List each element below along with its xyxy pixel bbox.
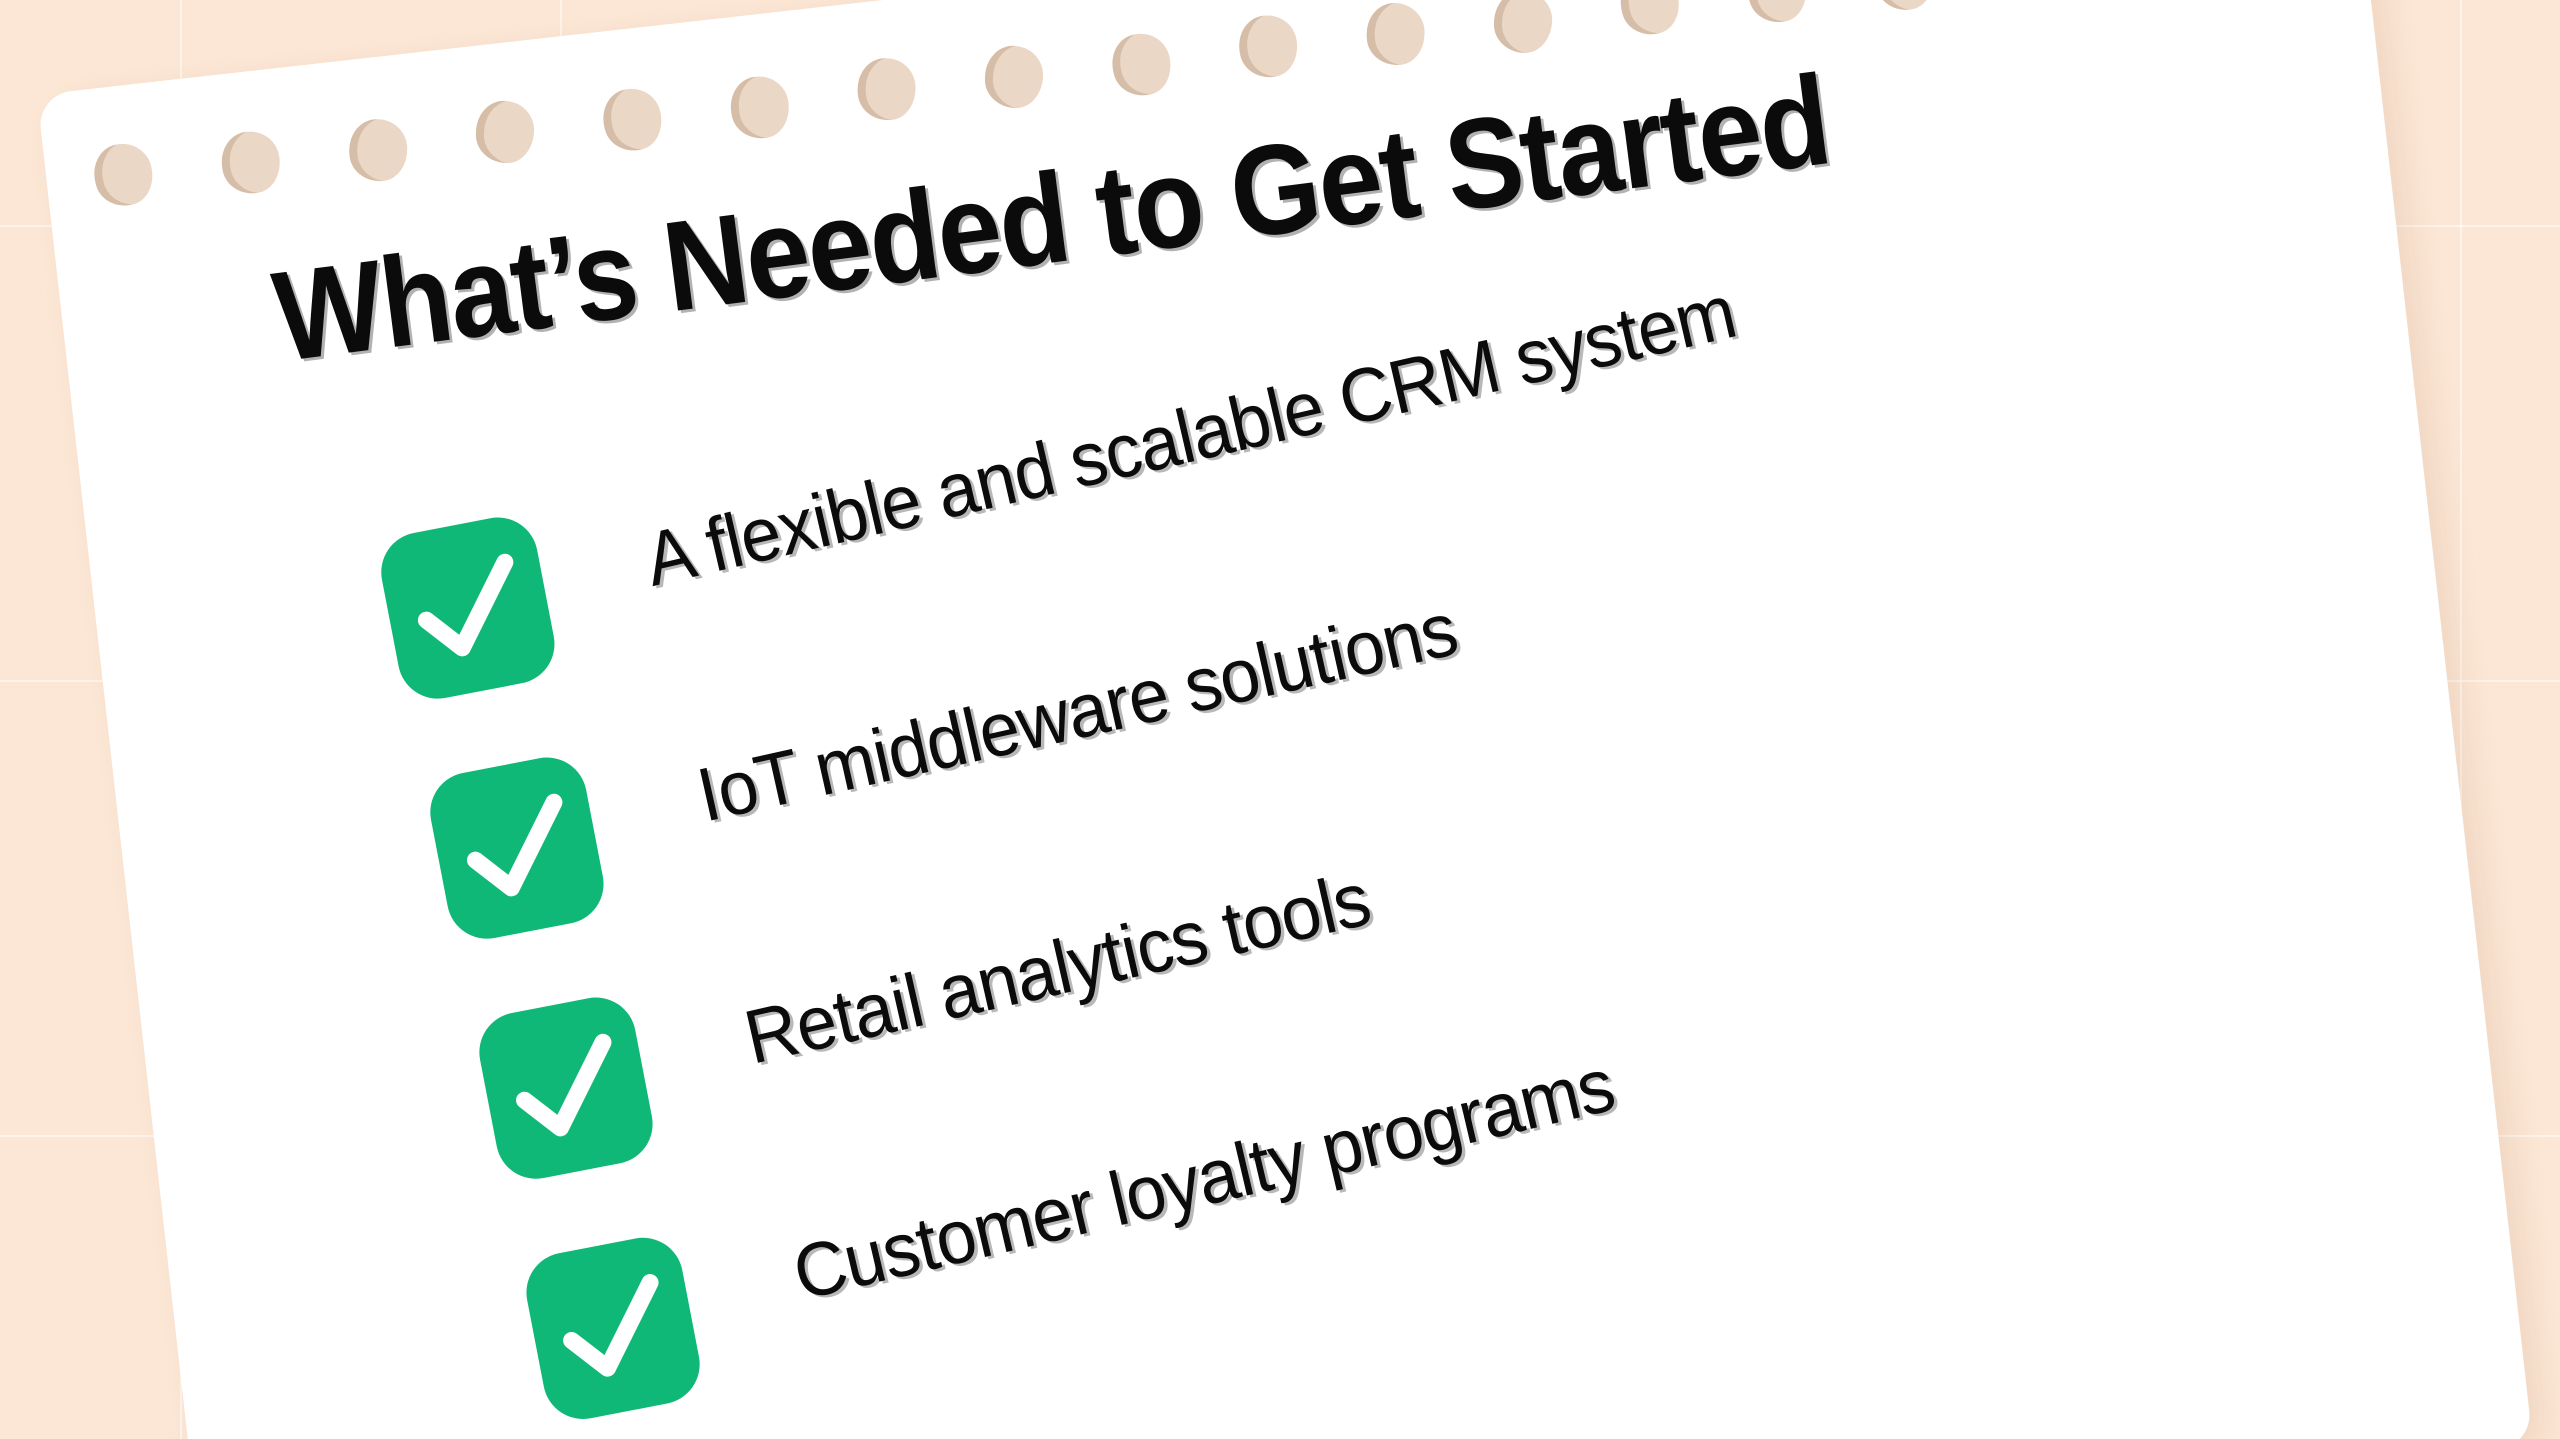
checklist: A flexible and scalable CRM system IoT m… — [380, 339, 2178, 1439]
punch-hole — [984, 45, 1044, 109]
slide-canvas: What’s Needed to Get Started A flexible … — [0, 0, 2560, 1439]
notepad-page: What’s Needed to Get Started A flexible … — [37, 0, 2533, 1439]
checkbox-checked[interactable] — [473, 990, 660, 1185]
punch-hole — [475, 100, 535, 164]
checkbox-checked[interactable] — [374, 510, 561, 705]
check-icon — [520, 1230, 707, 1425]
checkbox-checked[interactable] — [520, 1230, 707, 1425]
check-icon — [473, 990, 660, 1185]
checkbox-checked[interactable] — [423, 750, 610, 945]
check-icon — [423, 750, 610, 945]
check-icon — [374, 510, 561, 705]
